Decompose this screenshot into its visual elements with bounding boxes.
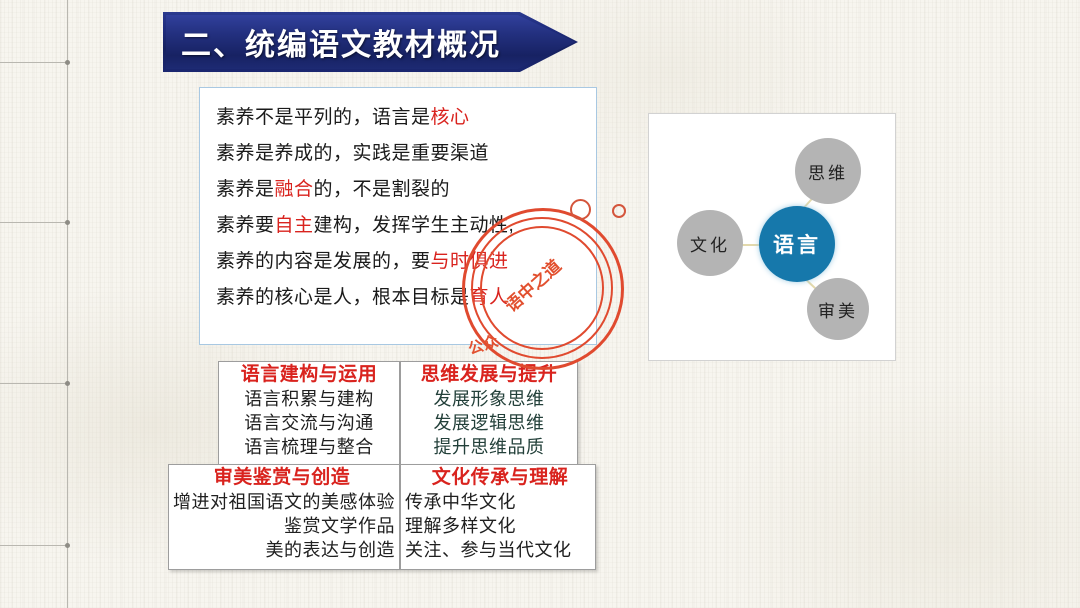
diagram-node-label: 语言 [773, 229, 821, 259]
statement-line: 素养是融合的，不是割裂的 [216, 172, 596, 208]
diagram-node-label: 文化 [690, 231, 730, 256]
statement-line: 素养的内容是发展的，要与时俱进 [216, 244, 596, 280]
competency-item: 关注、参与当代文化 [405, 538, 595, 562]
guide-horizontal-line-2 [0, 222, 68, 223]
competency-heading: 思维发展与提升 [401, 362, 577, 387]
diagram-node-culture: 文化 [677, 210, 743, 276]
section-title-banner: 二、统编语文教材概况 [163, 12, 578, 72]
competency-heading: 语言建构与运用 [219, 362, 399, 387]
competency-heading: 审美鉴赏与创造 [169, 465, 395, 490]
statement-highlight: 与时俱进 [431, 251, 509, 272]
competency-item: 鉴赏文学作品 [169, 514, 395, 538]
guide-horizontal-line-4 [0, 545, 68, 546]
competency-heading: 文化传承与理解 [405, 465, 595, 490]
statement-box: 素养不是平列的，语言是核心 素养是养成的，实践是重要渠道 素养是融合的，不是割裂… [199, 87, 597, 345]
competency-item: 语言积累与建构 [219, 387, 399, 411]
competency-item: 发展逻辑思维 [401, 411, 577, 435]
statement-line: 素养是养成的，实践是重要渠道 [216, 136, 596, 172]
guide-dot-3 [65, 381, 70, 386]
competency-item: 美的表达与创造 [169, 538, 395, 562]
core-literacy-diagram: 思维 文化 审美 语言 [648, 113, 896, 361]
competency-cell-thinking: 思维发展与提升 发展形象思维 发展逻辑思维 提升思维品质 [400, 361, 578, 468]
competency-item: 提升思维品质 [401, 435, 577, 459]
diagram-node-label: 思维 [808, 159, 848, 184]
statement-pre: 素养是养成的，实践是重要渠道 [216, 143, 489, 164]
guide-horizontal-line-1 [0, 62, 68, 63]
competency-item: 传承中华文化 [405, 490, 595, 514]
guide-horizontal-line-3 [0, 383, 68, 384]
slide-canvas: 二、统编语文教材概况 素养不是平列的，语言是核心 素养是养成的，实践是重要渠道 … [0, 0, 1080, 608]
competency-cell-aesthetic: 审美鉴赏与创造 增进对祖国语文的美感体验 鉴赏文学作品 美的表达与创造 [168, 464, 400, 570]
competency-item: 语言梳理与整合 [219, 435, 399, 459]
statement-pre: 素养要 [216, 215, 275, 236]
statement-post: 的，不是割裂的 [314, 179, 451, 200]
guide-dot-4 [65, 543, 70, 548]
statement-post: 建构，发挥学生主动性, [314, 215, 515, 236]
statement-line: 素养不是平列的，语言是核心 [216, 100, 596, 136]
statement-line: 素养的核心是人，根本目标是育人 [216, 280, 596, 316]
diagram-node-thinking: 思维 [795, 138, 861, 204]
competency-item: 理解多样文化 [405, 514, 595, 538]
statement-highlight: 育人 [470, 287, 509, 308]
statement-pre: 素养不是平列的，语言是 [216, 107, 431, 128]
competency-item: 发展形象思维 [401, 387, 577, 411]
guide-vertical-line [67, 0, 68, 608]
statement-highlight: 核心 [431, 107, 470, 128]
statement-pre: 素养是 [216, 179, 275, 200]
competency-cell-language: 语言建构与运用 语言积累与建构 语言交流与沟通 语言梳理与整合 [218, 361, 400, 468]
diagram-node-aesthetic: 审美 [807, 278, 869, 340]
statement-highlight: 融合 [275, 179, 314, 200]
competency-item: 语言交流与沟通 [219, 411, 399, 435]
page-title: 二、统编语文教材概况 [181, 12, 501, 72]
diagram-node-language-center: 语言 [759, 206, 835, 282]
statement-highlight: 自主 [275, 215, 314, 236]
diagram-node-label: 审美 [818, 297, 858, 322]
statement-pre: 素养的内容是发展的，要 [216, 251, 431, 272]
guide-dot-2 [65, 220, 70, 225]
statement-line: 素养要自主建构，发挥学生主动性, [216, 208, 596, 244]
competency-item: 增进对祖国语文的美感体验 [169, 490, 395, 514]
statement-pre: 素养的核心是人，根本目标是 [216, 287, 470, 308]
stamp-bubble-small [612, 204, 626, 218]
competency-cell-culture: 文化传承与理解 传承中华文化 理解多样文化 关注、参与当代文化 [400, 464, 596, 570]
guide-dot-1 [65, 60, 70, 65]
